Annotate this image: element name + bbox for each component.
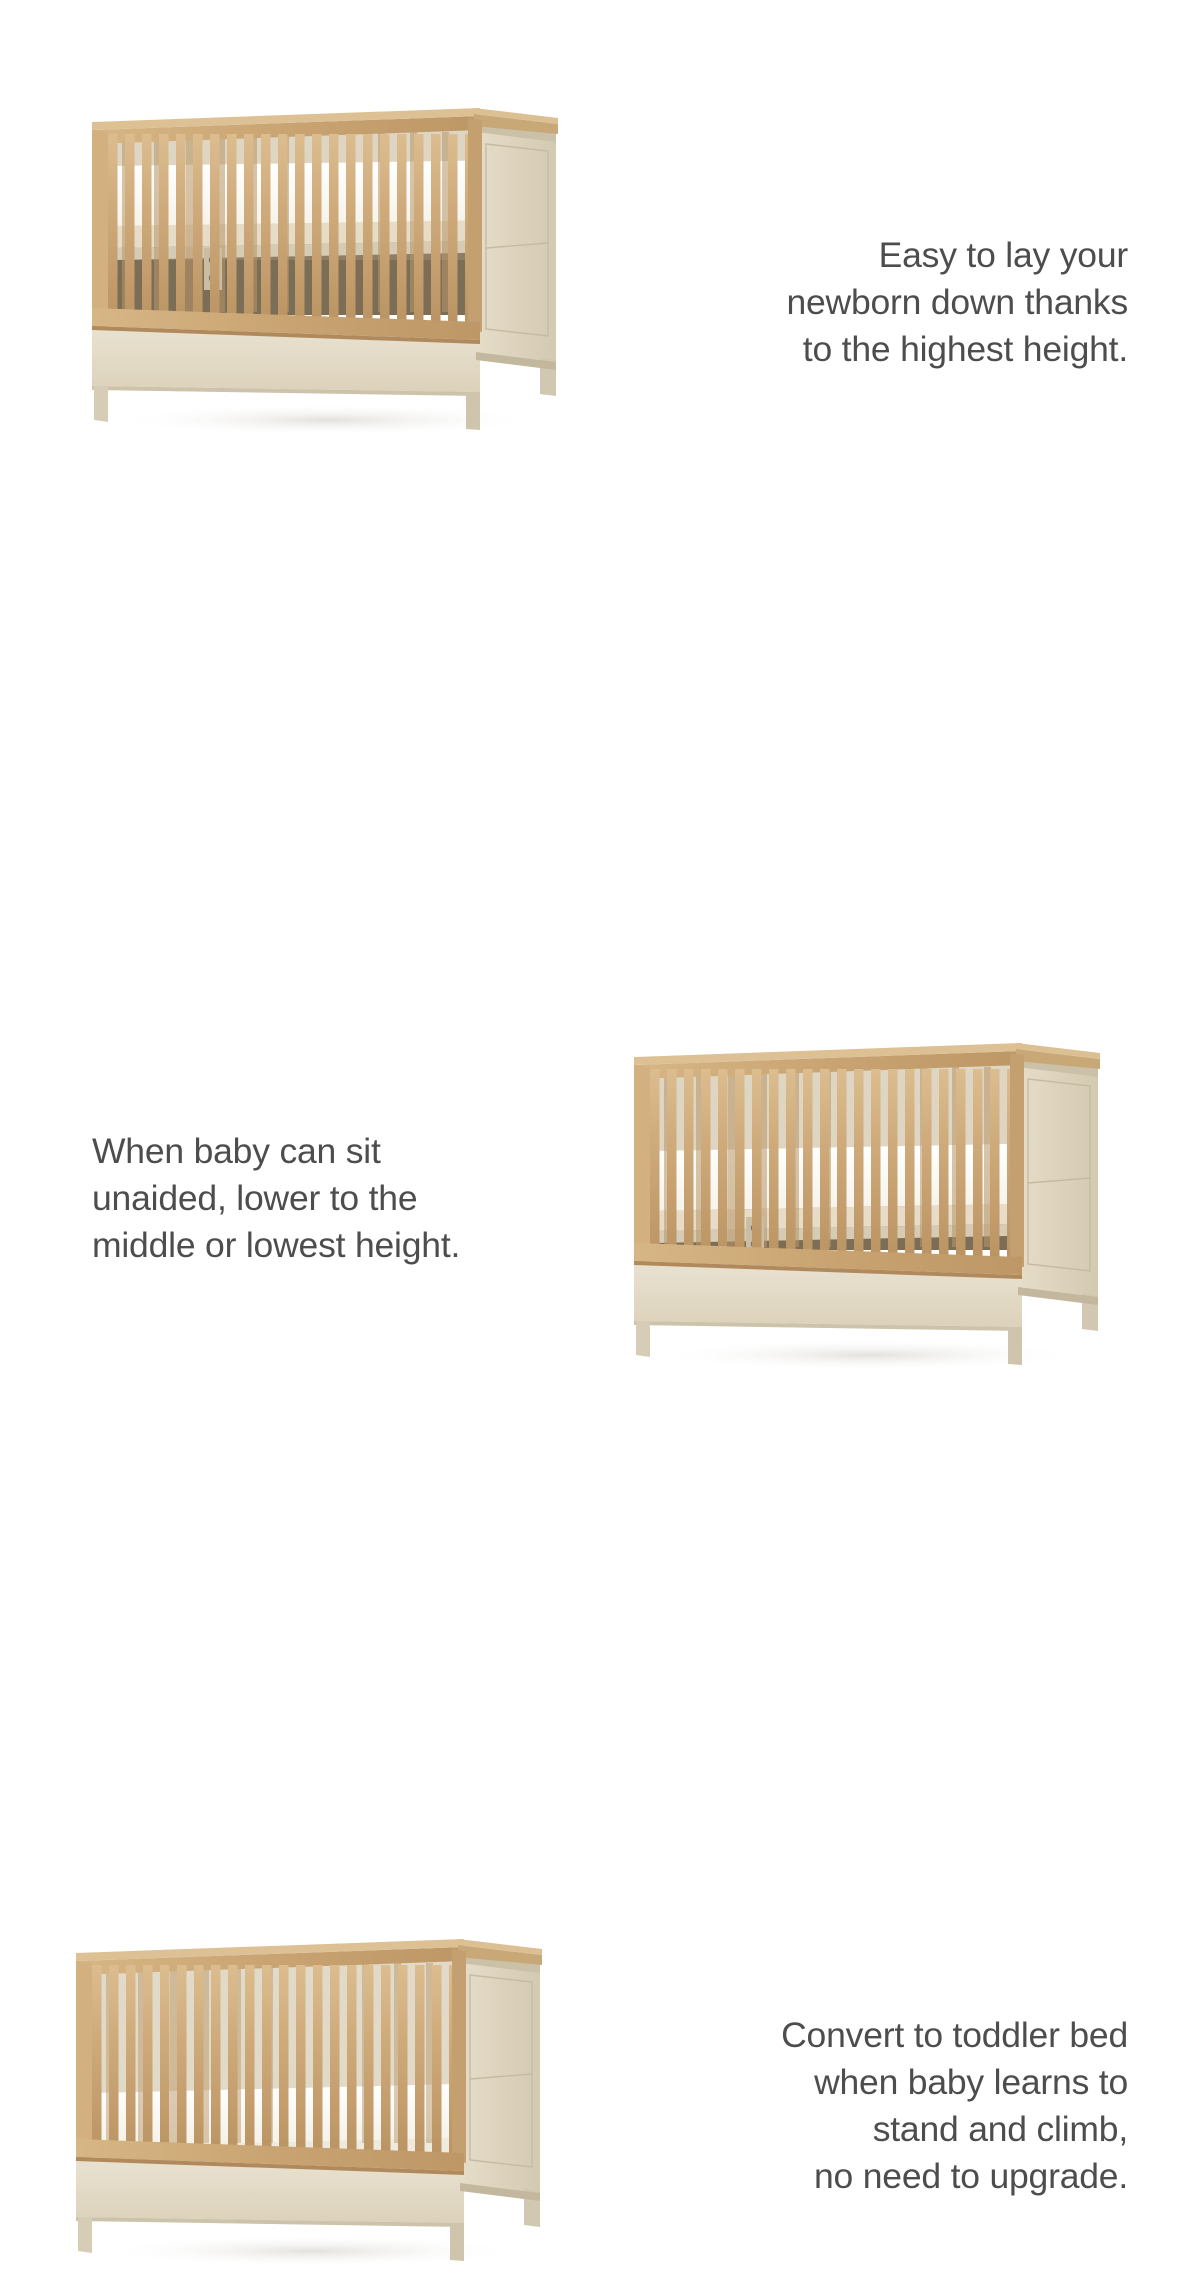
end-panel-right bbox=[460, 1953, 540, 2193]
cot-bed-highest-height-image bbox=[78, 100, 588, 450]
section-toddler-bed: Convert to toddler bed when baby learns … bbox=[0, 966, 1200, 1449]
cot-illustration bbox=[78, 100, 588, 450]
section-highest-height: Easy to lay your newborn down thanks to … bbox=[0, 0, 1200, 483]
left-post bbox=[76, 1961, 92, 2161]
section-middle-height: When baby can sit unaided, lower to the … bbox=[0, 483, 1200, 966]
right-post bbox=[468, 118, 482, 332]
caption-highest-height: Easy to lay your newborn down thanks to … bbox=[658, 232, 1128, 373]
cot-illustration bbox=[62, 1931, 572, 2281]
cot-bed-lowest-height-image bbox=[62, 1931, 572, 2281]
cot-svg bbox=[62, 1931, 572, 2281]
right-post bbox=[452, 1949, 466, 2163]
left-post bbox=[92, 130, 108, 330]
cot-svg bbox=[78, 100, 588, 450]
end-panel-right bbox=[476, 122, 556, 362]
caption-toddler-bed: Convert to toddler bed when baby learns … bbox=[658, 2012, 1128, 2200]
